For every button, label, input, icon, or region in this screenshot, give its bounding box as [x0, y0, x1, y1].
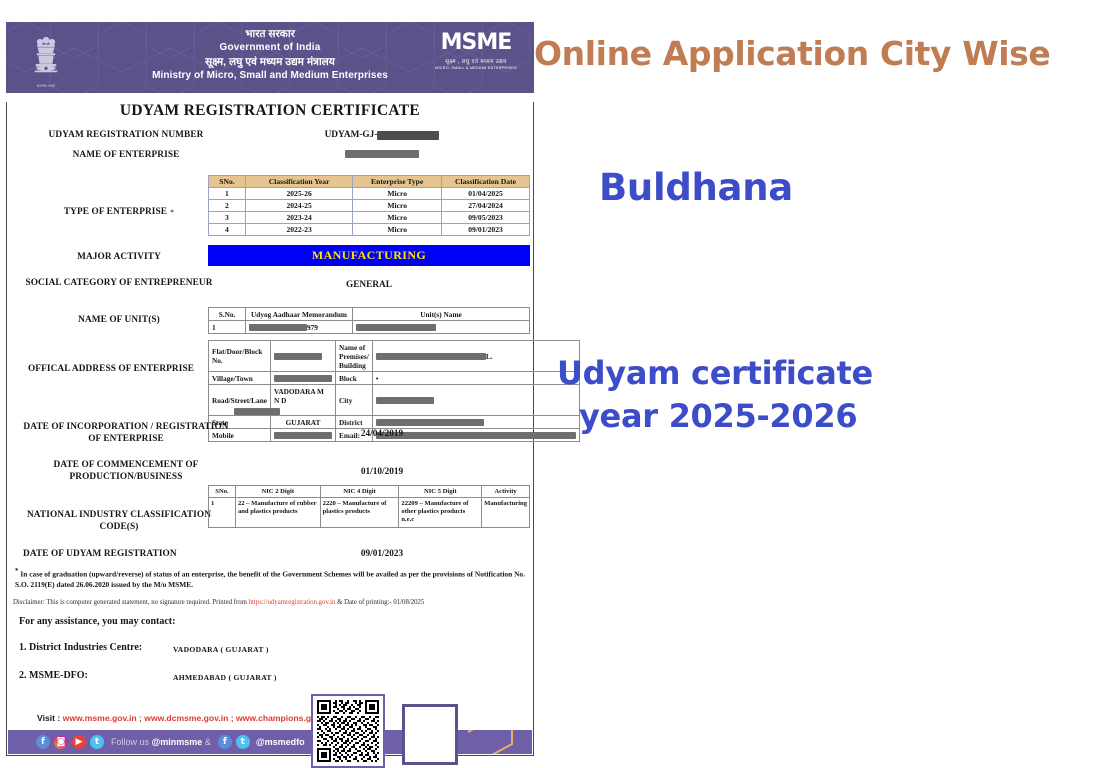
- table-cell: 4: [209, 224, 246, 236]
- table-cell: 979: [246, 321, 353, 334]
- redacted-road: [234, 408, 280, 415]
- redacted-value: [274, 375, 332, 382]
- address-row: StateGUJARATDistrictVADODARA - 45: [209, 416, 580, 429]
- msme-logo: MSME सूक्ष्म , लघु एवं मध्यम उद्यम MICRO…: [430, 32, 522, 70]
- table-cell: 2022-23: [245, 224, 352, 236]
- table-cell: Manufacturing: [482, 498, 530, 528]
- table-row: 32023-24Micro09/05/2023: [209, 212, 530, 224]
- table-cell: 27/04/2024: [442, 200, 530, 212]
- unit-col-header: Udyog Aadhaar Memorandum: [246, 308, 353, 321]
- emblem-caption: सत्यमेव जयते: [37, 83, 55, 88]
- major-activity-value: MANUFACTURING: [208, 245, 530, 266]
- table-row: 22024-25Micro27/04/2024: [209, 200, 530, 212]
- disclaimer-post: & Date of printing:- 01/08/2025: [335, 599, 424, 606]
- classification-col-header: Classification Date: [442, 176, 530, 188]
- twitter-icon[interactable]: t: [90, 735, 104, 749]
- nic-col-header: SNo.: [209, 486, 236, 498]
- table-cell: 2025-26: [245, 188, 352, 200]
- social-category-label: SOCIAL CATEGORY OF ENTREPRENEUR: [25, 278, 212, 290]
- table-cell: Micro: [353, 188, 442, 200]
- commencement-date-label: DATE OF COMMENCEMENT OF PRODUCTION/BUSIN…: [21, 460, 231, 483]
- page-title: Online Application City Wise: [534, 34, 1116, 73]
- msme-logo-mark: MSME: [430, 32, 522, 54]
- graduation-note-text: In case of graduation (upward/reverse) o…: [15, 569, 525, 589]
- visit-line: Visit : www.msme.gov.in ; www.dcmsme.gov…: [37, 713, 331, 723]
- address-field-label: Block: [336, 372, 373, 385]
- redacted-value: [376, 397, 434, 404]
- address-field-label: City: [336, 385, 373, 416]
- registration-number-label: UDYAM REGISTRATION NUMBER: [49, 130, 204, 142]
- empty-seal-box: [402, 704, 458, 765]
- unit-col-header: Unit(s) Name: [353, 308, 530, 321]
- certificate-title: UDYAM REGISTRATION CERTIFICATE: [7, 102, 533, 120]
- classification-col-header: Classification Year: [245, 176, 352, 188]
- city-name: Buldhana: [599, 166, 793, 209]
- table-cell: Micro: [353, 224, 442, 236]
- instagram-icon[interactable]: ◙: [54, 735, 68, 749]
- incorporation-date-value: 24/04/2019: [361, 429, 403, 439]
- commencement-date-value: 01/10/2019: [361, 467, 403, 477]
- address-field-label: District: [336, 416, 373, 429]
- table-cell: 22209 – Manufacture of other plastics pr…: [399, 498, 482, 528]
- unit-col-header: S.No.: [209, 308, 246, 321]
- address-row: Flat/Door/Block No.Name of Premises/ Bui…: [209, 341, 580, 372]
- right-text-panel: Online Application City Wise Buldhana Ud…: [534, 0, 1116, 753]
- nic-code-label: NATIONAL INDUSTRY CLASSIFICATION CODE(S): [21, 510, 217, 533]
- certificate-header: सत्यमेव जयते भारत सरकार Government of In…: [6, 22, 534, 93]
- address-field-label: Village/Town: [209, 372, 271, 385]
- address-field-label: Flat/Door/Block No.: [209, 341, 271, 372]
- udyam-certificate: सत्यमेव जयते भारत सरकार Government of In…: [6, 22, 534, 747]
- unit-names-label: NAME OF UNIT(S): [78, 315, 160, 327]
- table-cell: 2: [209, 200, 246, 212]
- table-cell: 3: [209, 212, 246, 224]
- classification-col-header: SNo.: [209, 176, 246, 188]
- table-cell: 1: [209, 498, 236, 528]
- dfo-label: 2. MSME-DFO:: [19, 670, 88, 681]
- table-cell: Micro: [353, 200, 442, 212]
- redacted-value: [274, 353, 322, 360]
- incorporation-date-label: DATE OF INCORPORATION / REGISTRATION OF …: [21, 422, 231, 445]
- nic-col-header: NIC 2 Digit: [235, 486, 320, 498]
- certificate-year-line1: Udyam certificate: [557, 354, 873, 392]
- graduation-note: * In case of graduation (upward/reverse)…: [15, 566, 525, 591]
- assistance-heading: For any assistance, you may contact:: [19, 616, 175, 627]
- table-cell: Micro: [353, 212, 442, 224]
- msme-logo-hindi: सूक्ष्म , लघु एवं मध्यम उद्यम: [430, 57, 522, 65]
- classification-table: SNo.Classification YearEnterprise TypeCl…: [208, 175, 530, 236]
- certificate-year-heading: Udyam certificate year 2025-2026: [557, 352, 1077, 438]
- ministry-english: Ministry of Micro, Small and Medium Ente…: [6, 69, 534, 83]
- msme-logo-english: MICRO, SMALL & MEDIUM ENTERPRISES: [430, 66, 522, 70]
- table-row: 42022-23Micro09/01/2023: [209, 224, 530, 236]
- facebook-icon[interactable]: f: [36, 735, 50, 749]
- handle-minmsme[interactable]: @minmsme: [152, 737, 203, 747]
- qr-code[interactable]: [311, 694, 385, 768]
- address-field-label: Name of Premises/ Building: [336, 341, 373, 372]
- screenshot-stage: सत्यमेव जयते भारत सरकार Government of In…: [0, 0, 1116, 753]
- table-cell: 09/01/2023: [442, 224, 530, 236]
- handle-separator: &: [202, 737, 211, 747]
- nic-col-header: Activity: [482, 486, 530, 498]
- table-cell: 2023-24: [245, 212, 352, 224]
- table-header-row: SNo.Classification YearEnterprise TypeCl…: [209, 176, 530, 188]
- address-field-value: [271, 372, 336, 385]
- table-row: 1979: [209, 321, 530, 334]
- dic-label: 1. District Industries Centre:: [19, 642, 142, 653]
- table-cell: 22 – Manufacture of rubber and plastics …: [235, 498, 320, 528]
- address-row: Village/TownBlock•: [209, 372, 580, 385]
- major-activity-label: MAJOR ACTIVITY: [77, 252, 161, 264]
- certificate-year-line2: year 2025-2026: [579, 395, 1077, 438]
- disclaimer-text: Disclaimer: This is computer generated s…: [13, 599, 527, 606]
- type-label-asterisk: *: [170, 208, 174, 217]
- unit-names-table: S.No.Udyog Aadhaar MemorandumUnit(s) Nam…: [208, 307, 530, 334]
- type-of-enterprise-label: TYPE OF ENTERPRISE: [64, 207, 167, 219]
- table-cell: 09/05/2023: [442, 212, 530, 224]
- table-cell: [353, 321, 530, 334]
- follow-text: Follow us @minmsme &: [111, 737, 211, 747]
- social-category-value: GENERAL: [346, 280, 392, 290]
- table-cell: 01/04/2025: [442, 188, 530, 200]
- address-field-value: [271, 341, 336, 372]
- redacted-value: [376, 353, 486, 360]
- dic-value: VADODARA ( GUJARAT ): [173, 645, 269, 654]
- address-field-value: GUJARAT: [271, 416, 336, 429]
- twitter-icon-2[interactable]: t: [236, 735, 250, 749]
- registration-number-value: UDYAM-GJ-: [325, 130, 378, 140]
- dfo-value: AHMEDABAD ( GUJARAT ): [173, 673, 277, 682]
- udyam-registration-date-label: DATE OF UDYAM REGISTRATION: [23, 549, 177, 561]
- handle-msmedfo[interactable]: @msmedfo: [256, 737, 305, 747]
- disclaimer-pre: Disclaimer: This is computer generated s…: [13, 599, 249, 606]
- nic-col-header: NIC 4 Digit: [320, 486, 399, 498]
- table-cell: 1: [209, 321, 246, 334]
- visit-urls[interactable]: www.msme.gov.in ; www.dcmsme.gov.in ; ww…: [63, 713, 331, 723]
- certificate-body: UDYAM REGISTRATION CERTIFICATE UDYAM REG…: [6, 102, 534, 756]
- follow-label: Follow us: [111, 737, 152, 747]
- qr-code-icon: [315, 698, 381, 764]
- address-row: Road/Street/LaneVADODARA M N DCity: [209, 385, 580, 416]
- youtube-icon[interactable]: ▶: [72, 735, 86, 749]
- enterprise-name-label: NAME OF ENTERPRISE: [73, 150, 180, 162]
- table-cell: 1: [209, 188, 246, 200]
- official-address-label: OFFICAL ADDRESS OF ENTERPRISE: [28, 364, 194, 376]
- redacted-unit-name: [356, 324, 436, 331]
- official-address-table: Flat/Door/Block No.Name of Premises/ Bui…: [208, 340, 580, 442]
- table-row: 12025-26Micro01/04/2025: [209, 188, 530, 200]
- redacted-enterprise-name: [345, 150, 419, 158]
- redacted-uam-number: [249, 324, 307, 331]
- table-row: 122 – Manufacture of rubber and plastics…: [209, 498, 530, 528]
- table-cell: 2024-25: [245, 200, 352, 212]
- udyam-portal-link[interactable]: https://udyamregistration.gov.in: [249, 599, 336, 606]
- address-field-value: VADODARA M N D: [271, 385, 336, 416]
- nic-code-table: SNo.NIC 2 DigitNIC 4 DigitNIC 5 DigitAct…: [208, 485, 530, 528]
- nic-col-header: NIC 5 Digit: [399, 486, 482, 498]
- facebook-icon-2[interactable]: f: [218, 735, 232, 749]
- redacted-registration-number: [377, 131, 439, 140]
- classification-col-header: Enterprise Type: [353, 176, 442, 188]
- table-cell: 2220 – Manufacture of plastics products: [320, 498, 399, 528]
- visit-label: Visit :: [37, 713, 63, 723]
- udyam-registration-date-value: 09/01/2023: [361, 549, 403, 559]
- redacted-district: [376, 419, 484, 426]
